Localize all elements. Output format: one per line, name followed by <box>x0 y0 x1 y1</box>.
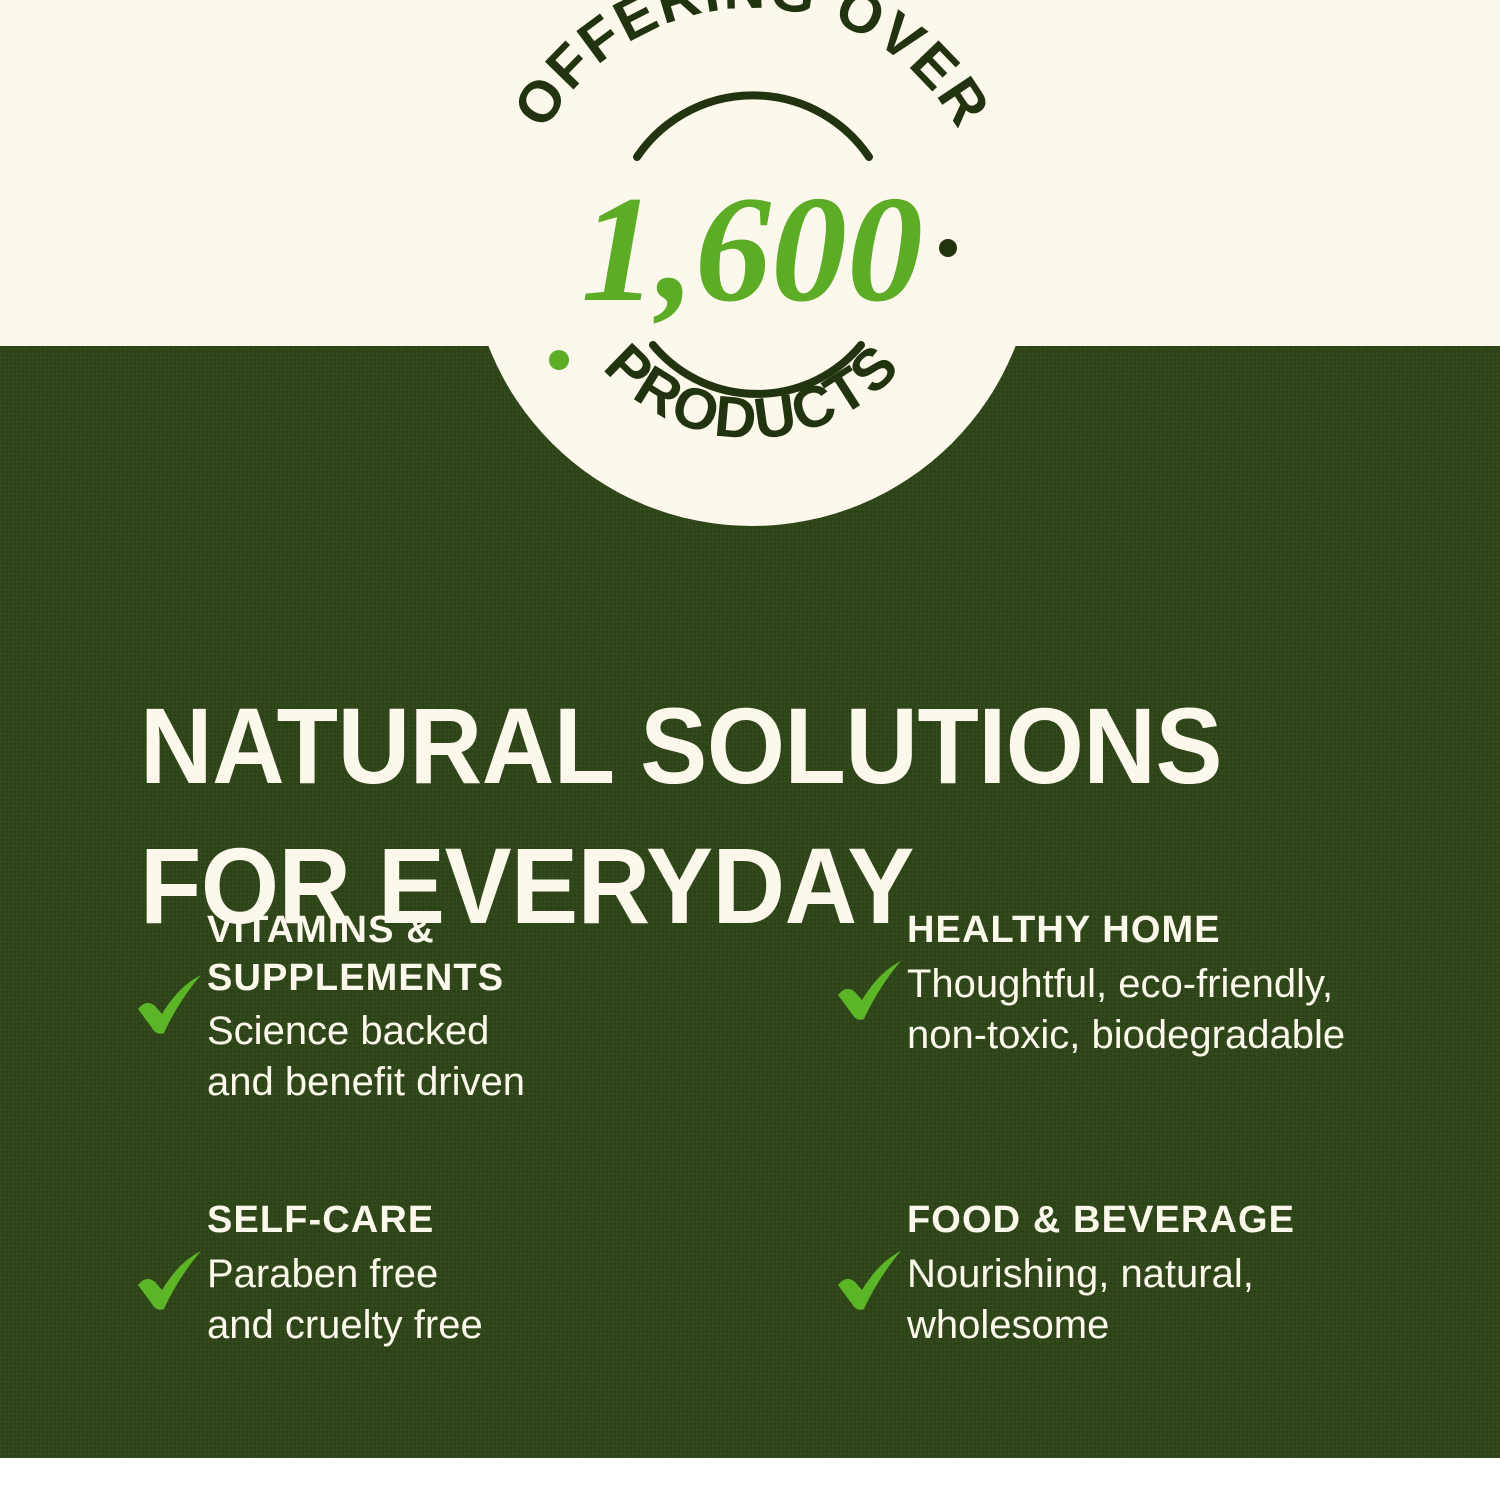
feature-title: FOOD & BEVERAGE <box>907 1197 1295 1245</box>
promo-graphic: OFFERING OVER PRODUCTS 1,600 NATURAL SOL… <box>0 0 1500 1500</box>
bottom-white-strip <box>0 1458 1500 1500</box>
badge-dot-left-icon <box>549 350 569 370</box>
feature-item-food-beverage: FOOD & BEVERAGE Nourishing, natural, who… <box>835 1195 1495 1351</box>
feature-description: Thoughtful, eco-friendly, non-toxic, bio… <box>907 959 1345 1061</box>
checkmark-icon <box>835 959 907 1023</box>
feature-item-self-care: SELF-CARE Paraben free and cruelty free <box>135 1195 795 1351</box>
badge-product-count: 1,600 <box>581 165 923 333</box>
feature-description: Science backed and benefit driven <box>207 1006 525 1108</box>
feature-text-block: HEALTHY HOME Thoughtful, eco-friendly, n… <box>907 905 1345 1061</box>
feature-list: VITAMINS & SUPPLEMENTS Science backed an… <box>0 905 1500 1351</box>
checkmark-icon <box>135 973 207 1037</box>
feature-item-healthy-home: HEALTHY HOME Thoughtful, eco-friendly, n… <box>835 905 1495 1195</box>
feature-text-block: VITAMINS & SUPPLEMENTS Science backed an… <box>207 905 525 1108</box>
feature-item-vitamins-supplements: VITAMINS & SUPPLEMENTS Science backed an… <box>135 905 795 1195</box>
feature-text-block: FOOD & BEVERAGE Nourishing, natural, who… <box>907 1195 1295 1351</box>
feature-text-block: SELF-CARE Paraben free and cruelty free <box>207 1195 483 1351</box>
feature-description: Paraben free and cruelty free <box>207 1249 483 1351</box>
badge-top-arc-text: OFFERING OVER <box>501 0 1003 138</box>
badge-dot-right-icon <box>939 239 957 257</box>
checkmark-icon <box>835 1249 907 1313</box>
feature-title: SELF-CARE <box>207 1197 483 1245</box>
feature-title: HEALTHY HOME <box>907 907 1345 955</box>
feature-title: VITAMINS & SUPPLEMENTS <box>207 907 525 1002</box>
checkmark-icon <box>135 1249 207 1313</box>
feature-description: Nourishing, natural, wholesome <box>907 1249 1295 1351</box>
product-count-badge: OFFERING OVER PRODUCTS 1,600 <box>469 0 1035 526</box>
badge-upper-arc-icon <box>637 95 869 157</box>
